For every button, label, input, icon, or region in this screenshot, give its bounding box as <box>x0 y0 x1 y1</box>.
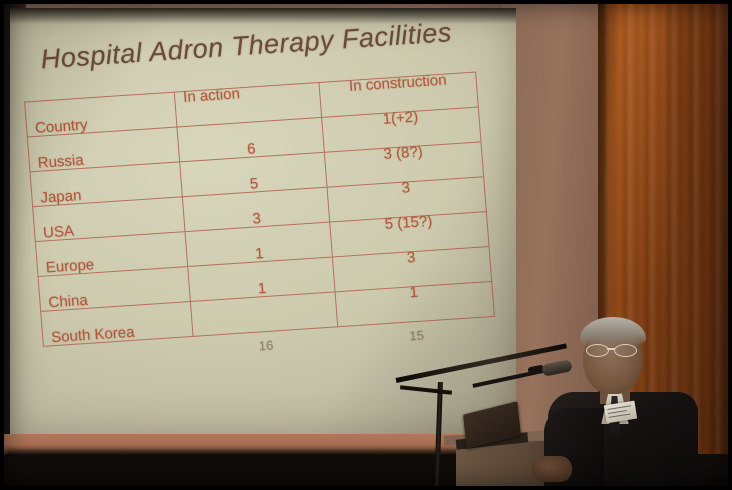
country-label: USA <box>43 222 75 241</box>
value-in-action: 1 <box>255 245 265 263</box>
speaker-hand <box>532 456 572 482</box>
total-in-action: 16 <box>193 333 339 358</box>
header-in-action-label: In action <box>183 85 241 106</box>
country-label: South Korea <box>51 323 136 345</box>
value-in-construction: 1(+2) <box>382 108 419 127</box>
glasses-left-lens <box>586 344 609 357</box>
country-label: Russia <box>37 151 84 171</box>
header-in-construction-label: In construction <box>348 71 447 94</box>
screen-top-shadow <box>10 8 516 24</box>
value-in-action: 6 <box>247 140 257 158</box>
total-in-construction: 15 <box>338 323 496 348</box>
value-in-action: 3 <box>252 210 262 228</box>
country-label: China <box>48 291 88 311</box>
conference-photo: Hospital Adron Therapy Facilities Countr… <box>0 0 732 490</box>
value-in-action: 1 <box>257 279 267 297</box>
header-country-label: Country <box>34 116 88 136</box>
slide-title: Hospital Adron Therapy Facilities <box>40 17 453 75</box>
glasses-icon <box>584 344 640 355</box>
value-in-construction: 3 <box>401 179 411 197</box>
value-in-construction: 3 <box>406 249 416 267</box>
country-label: Japan <box>40 187 82 207</box>
glasses-right-lens <box>614 344 637 357</box>
wall-panel <box>502 4 604 452</box>
country-label: Europe <box>45 256 95 276</box>
value-in-construction: 1 <box>409 283 419 301</box>
curtain-highlight <box>616 4 668 304</box>
totals-spacer <box>43 343 194 368</box>
badge-line <box>609 413 631 418</box>
badge-line <box>607 405 631 410</box>
facilities-table: Country In action In construction Russia <box>24 72 495 347</box>
value-in-construction: 3 (8?) <box>383 143 423 163</box>
value-in-action: 5 <box>249 175 259 193</box>
microphone-stand-base <box>418 486 462 490</box>
value-in-construction: 5 (15?) <box>384 212 433 232</box>
